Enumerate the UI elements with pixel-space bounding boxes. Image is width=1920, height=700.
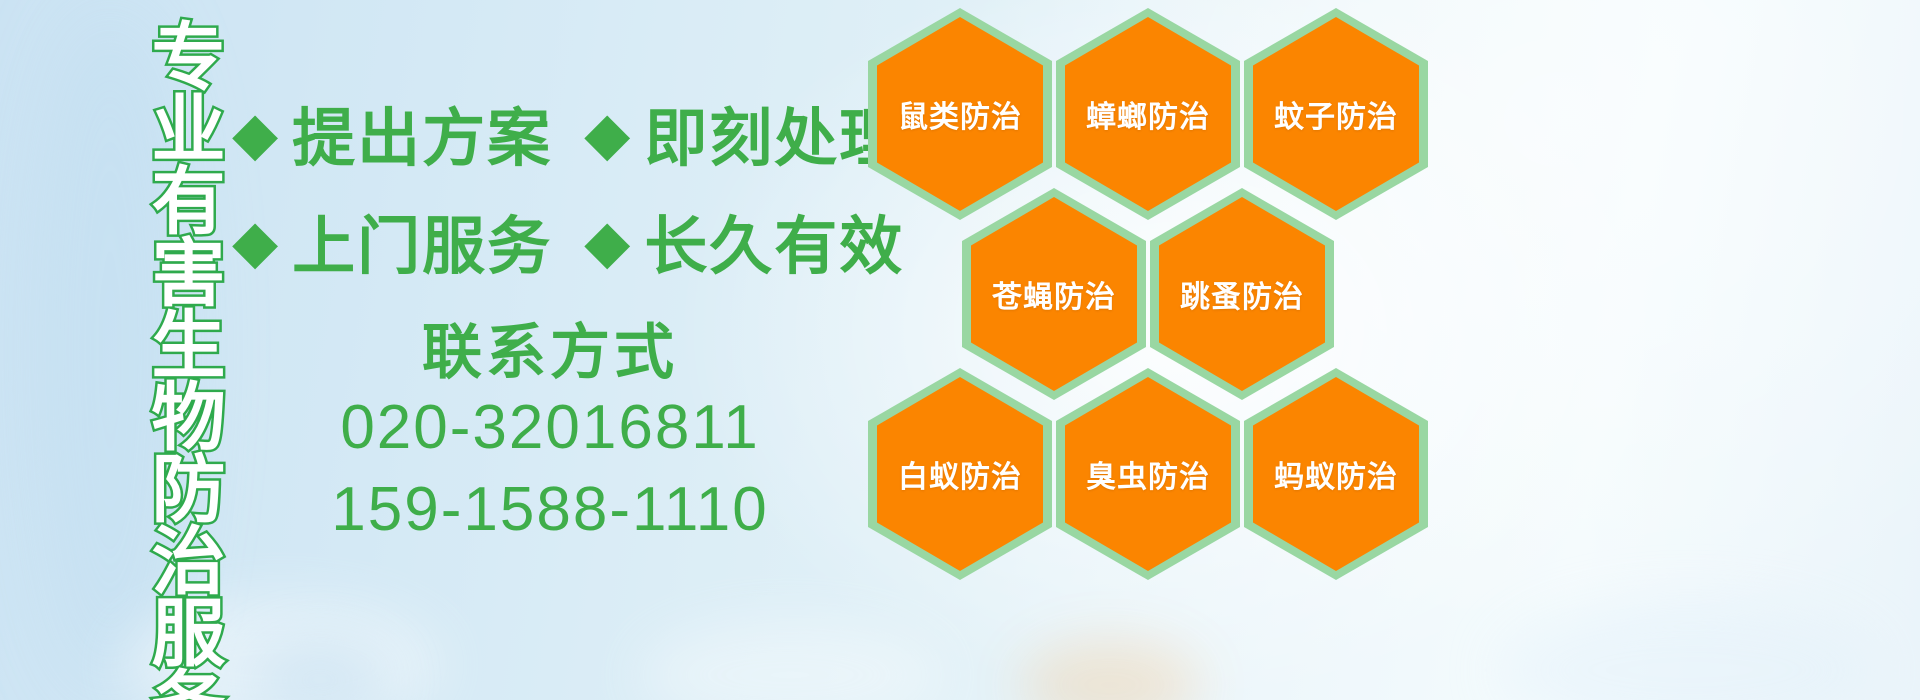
- feature-label-door-to-door-service: 上门服务: [292, 196, 552, 287]
- hex-label-flea-control: 跳蚤防治: [1180, 272, 1304, 316]
- phone-number-landline[interactable]: 020-32016811: [300, 387, 800, 469]
- hex-label-termite-control: 白蚁防治: [898, 452, 1022, 496]
- hex-cell-termite-control[interactable]: 白蚁防治: [868, 368, 1052, 580]
- hex-label-fly-control: 苍蝇防治: [992, 272, 1116, 316]
- feature-row-2: ◆ 上门服务 ◆ 长久有效: [232, 196, 904, 287]
- diamond-bullet-icon: ◆: [584, 104, 630, 164]
- background-blur-c: [640, 620, 940, 700]
- promotional-banner: 专业有害生物防治服务 ◆ 提出方案 ◆ 即刻处理 ◆ 上门服务 ◆ 长久有效 联…: [0, 0, 1920, 700]
- diamond-bullet-icon: ◆: [232, 104, 278, 164]
- feature-row-1: ◆ 提出方案 ◆ 即刻处理: [232, 88, 904, 179]
- background-blur-e: [1500, 600, 1880, 700]
- hex-cell-bedbug-control[interactable]: 臭虫防治: [1056, 368, 1240, 580]
- diamond-bullet-icon: ◆: [232, 212, 278, 272]
- contact-title: 联系方式: [300, 318, 800, 387]
- feature-label-propose-plan: 提出方案: [292, 88, 552, 179]
- hex-label-cockroach-control: 蟑螂防治: [1086, 92, 1210, 136]
- hex-label-rodent-control: 鼠类防治: [898, 92, 1022, 136]
- vertical-company-slogan: 专业有害生物防治服务: [104, 18, 220, 558]
- hex-label-bedbug-control: 臭虫防治: [1086, 452, 1210, 496]
- diamond-bullet-icon: ◆: [584, 212, 630, 272]
- background-blur-d: [1020, 640, 1200, 700]
- phone-number-mobile[interactable]: 159-1588-1110: [300, 469, 800, 551]
- hex-label-ant-control: 蚂蚁防治: [1274, 452, 1398, 496]
- hex-cell-ant-control[interactable]: 蚂蚁防治: [1244, 368, 1428, 580]
- hex-label-mosquito-control: 蚊子防治: [1274, 92, 1398, 136]
- contact-block: 联系方式 020-32016811 159-1588-1110: [300, 318, 800, 551]
- honeycomb-service-grid: 鼠类防治 蟑螂防治 蚊子防治 苍蝇防治 跳蚤防治 白蚁防治: [860, 0, 1460, 560]
